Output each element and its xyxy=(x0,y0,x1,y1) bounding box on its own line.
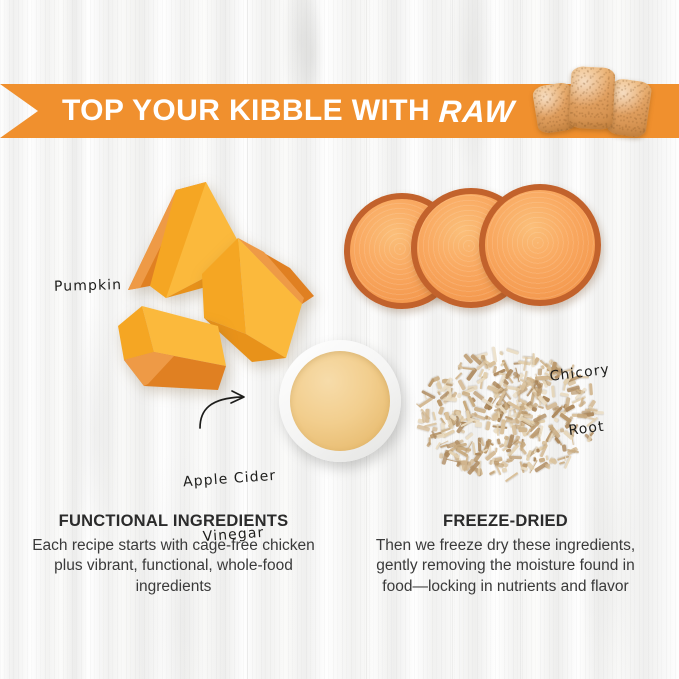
chicory-chip xyxy=(474,411,478,415)
sweet-potato-slice-right xyxy=(479,184,601,306)
chicory-chip xyxy=(475,422,483,427)
chicory-chip xyxy=(538,369,542,376)
chicory-chip xyxy=(506,348,519,355)
label-chicory-line2: Root xyxy=(556,417,618,443)
benefit-body: Each recipe starts with cage-free chicke… xyxy=(32,536,316,597)
benefit-heading: FUNCTIONAL INGREDIENTS xyxy=(32,512,316,531)
benefit-heading: FREEZE-DRIED xyxy=(364,512,648,531)
chicory-chip xyxy=(505,472,519,482)
benefit-column-freeze-dried: FREEZE-DRIED Then we freeze dry these in… xyxy=(364,512,648,597)
chicory-chip xyxy=(437,433,445,439)
chicory-chip xyxy=(486,421,491,430)
chicory-chip xyxy=(496,424,499,436)
chicory-chip xyxy=(501,468,507,473)
chicory-chip xyxy=(444,411,449,420)
chicory-chip xyxy=(425,408,429,422)
chicory-chip xyxy=(538,405,544,409)
headline-main-text: TOP YOUR KIBBLE WITH xyxy=(62,96,430,126)
pumpkin-chunk-bottom xyxy=(114,300,254,400)
headline-emphasis-text: RAW xyxy=(438,96,516,127)
chicory-chip xyxy=(533,353,535,365)
chicory-chip xyxy=(488,471,494,475)
chicory-chip xyxy=(531,407,537,413)
chicory-chip xyxy=(465,432,474,440)
chicory-chip xyxy=(462,367,475,370)
chicory-chip xyxy=(475,453,481,455)
chicory-chip xyxy=(492,346,497,362)
chicory-chip xyxy=(426,441,431,447)
chicory-chip xyxy=(506,386,520,391)
chicory-chip xyxy=(481,355,485,359)
chicory-chip xyxy=(519,428,528,432)
chicory-chip xyxy=(457,379,466,391)
label-chicory-line1: Chicory xyxy=(549,360,611,386)
chicory-chip xyxy=(476,469,480,477)
chicory-chip xyxy=(428,378,435,387)
kibble-piece-center xyxy=(568,66,615,130)
chicory-chip xyxy=(499,352,503,356)
chicory-chip xyxy=(496,438,500,444)
label-pumpkin: Pumpkin xyxy=(54,276,123,297)
chicory-chip xyxy=(454,372,461,380)
benefits-row: FUNCTIONAL INGREDIENTS Each recipe start… xyxy=(0,512,679,597)
benefit-body: Then we freeze dry these ingredients, ge… xyxy=(364,536,648,597)
banner-headline: TOP YOUR KIBBLE WITH RAW xyxy=(62,84,515,138)
vinegar-liquid xyxy=(290,351,390,451)
chicory-chip xyxy=(433,411,437,420)
chicory-chip xyxy=(536,449,540,454)
chicory-chip xyxy=(499,419,505,435)
label-acv-line1: Apple Cider xyxy=(182,467,276,492)
chicory-chip xyxy=(495,447,498,452)
chicory-chip xyxy=(545,455,548,460)
chicory-chip xyxy=(545,463,550,467)
kibble-nuggets xyxy=(533,58,679,146)
vinegar-bowl xyxy=(279,340,401,462)
benefit-column-functional-ingredients: FUNCTIONAL INGREDIENTS Each recipe start… xyxy=(32,512,316,597)
apple-cider-vinegar-arrow-icon xyxy=(196,388,254,430)
chicory-chip xyxy=(461,430,466,434)
product-feature-image: TOP YOUR KIBBLE WITH RAW Pumpkin Apple C… xyxy=(0,0,679,679)
